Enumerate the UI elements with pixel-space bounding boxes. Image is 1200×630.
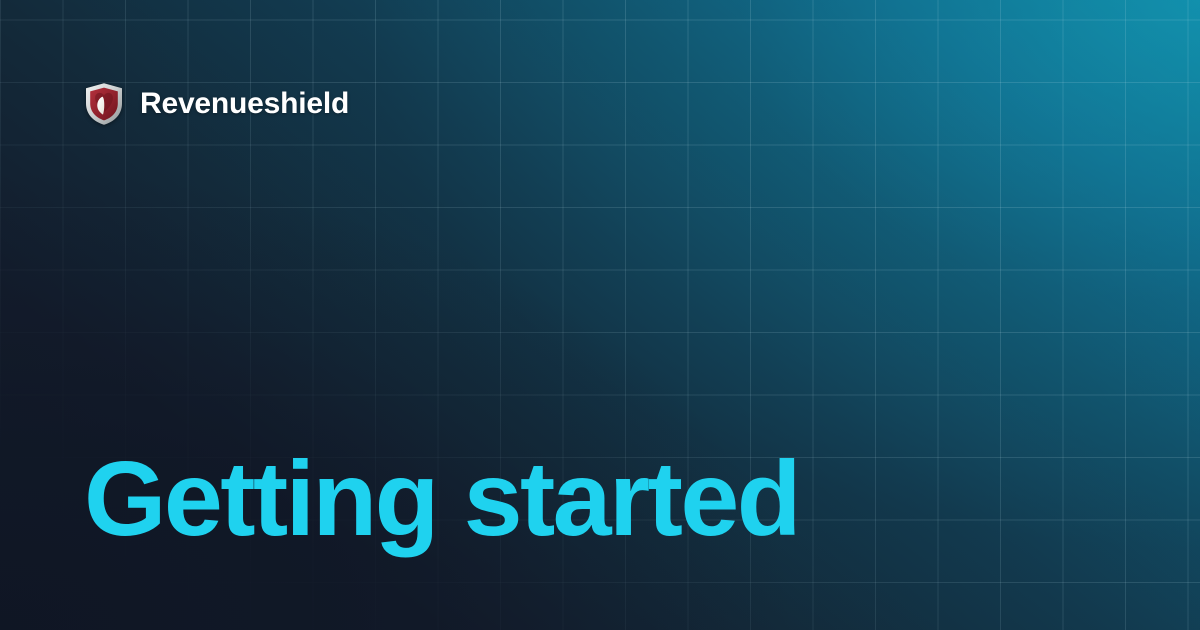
brand-name: Revenueshield xyxy=(140,89,349,119)
shield-heart-icon xyxy=(84,82,124,126)
brand-lockup: Revenueshield xyxy=(84,82,349,126)
page-title: Getting started xyxy=(84,444,799,554)
og-card: Revenueshield Getting started xyxy=(0,0,1200,630)
